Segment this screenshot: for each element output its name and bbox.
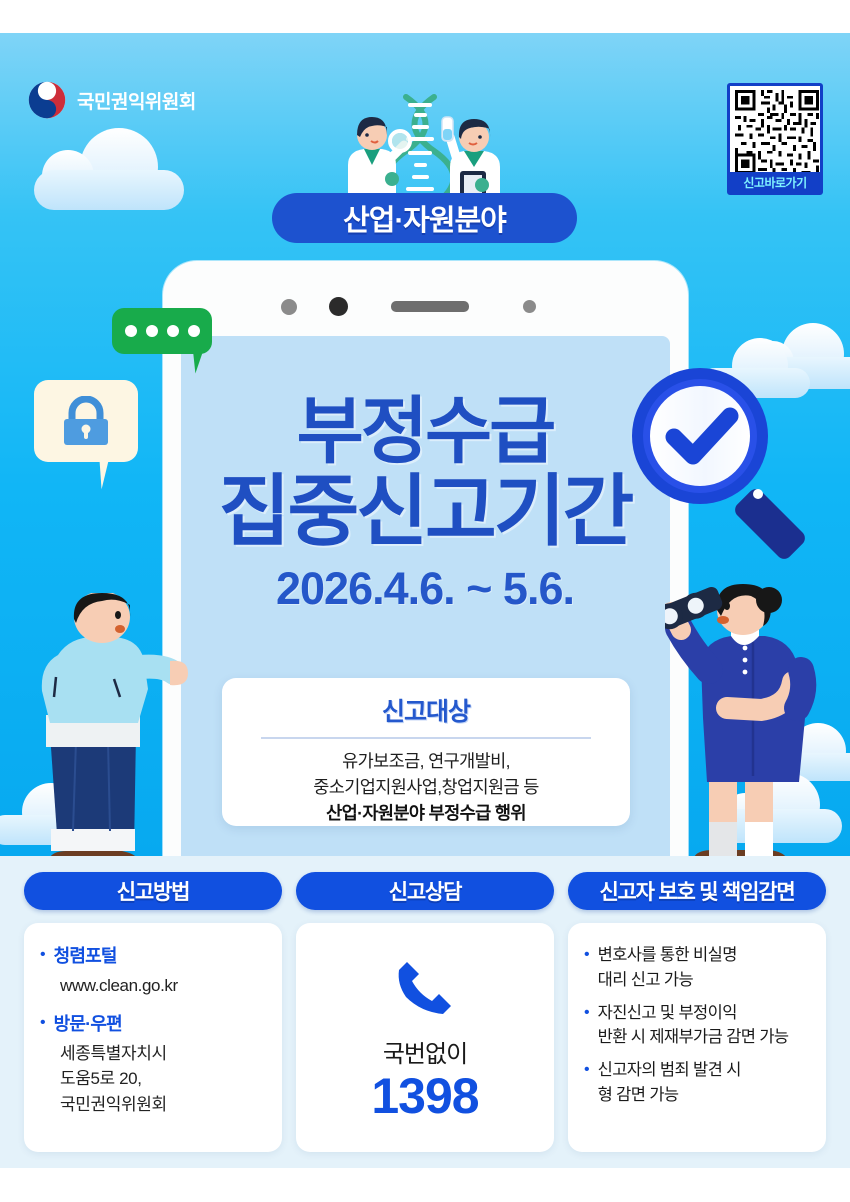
card-report-method: 신고방법 • 청렴포털 www.clean.go.kr • 방문·우편 세종특별… [24, 872, 282, 1152]
dot-icon [125, 325, 137, 337]
card-report-consult: 신고상담 국번없이 1398 [296, 872, 554, 1152]
card-title: 신고자 보호 및 책임감면 [599, 876, 794, 906]
cloud-icon [34, 128, 184, 200]
bullet-icon: • [40, 943, 46, 969]
camera-dot-icon [329, 297, 348, 316]
list-item-sub: 세종특별자치시 도움5로 20, 국민권익위원회 [60, 1041, 266, 1118]
dot-icon [188, 325, 200, 337]
chat-bubble-lock-icon [34, 380, 138, 462]
scientists-dna-icon [330, 93, 520, 208]
bullet-icon: • [584, 1001, 590, 1051]
list-item: • 신고자의 범죄 발견 시 형 감면 가능 [584, 1058, 810, 1108]
category-badge: 산업·자원분야 [272, 193, 577, 243]
list-item-text: 자진신고 및 부정이익 반환 시 제재부가금 감면 가능 [598, 1001, 789, 1051]
lock-icon [54, 396, 118, 448]
camera-dot-icon [281, 299, 297, 315]
list-item-text: 신고자의 범죄 발견 시 형 감면 가능 [598, 1058, 741, 1108]
phone-label: 국번없이 [383, 1034, 467, 1069]
chat-bubble-dots-icon [112, 308, 212, 354]
report-target-title: 신고대상 [240, 692, 612, 728]
card-header: 신고자 보호 및 책임감면 [568, 872, 826, 910]
camera-dot-icon [523, 300, 536, 313]
card-title: 신고방법 [117, 876, 189, 906]
qr-code-block[interactable]: 신고바로가기 [727, 83, 823, 195]
dot-icon [146, 325, 158, 337]
list-item: • 청렴포털 www.clean.go.kr [40, 943, 266, 999]
qr-code-icon [734, 90, 820, 174]
card-body: • 청렴포털 www.clean.go.kr • 방문·우편 세종특별자치시 도… [24, 923, 282, 1152]
report-target-line-2: 중소기업지원사업,창업지원금 등 [240, 774, 612, 800]
list-item: • 자진신고 및 부정이익 반환 시 제재부가금 감면 가능 [584, 1001, 810, 1051]
phone-number[interactable]: 1398 [371, 1069, 478, 1124]
speaker-grille-icon [391, 301, 469, 312]
dot-icon [167, 325, 179, 337]
card-header: 신고상담 [296, 872, 554, 910]
list-item: • 변호사를 통한 비실명 대리 신고 가능 [584, 943, 810, 993]
report-target-line-3: 산업·자원분야 부정수급 행위 [240, 800, 612, 826]
list-item-text: 변호사를 통한 비실명 대리 신고 가능 [598, 943, 737, 993]
agency-name: 국민권익위원회 [77, 87, 196, 114]
card-title: 신고상담 [389, 876, 461, 906]
qr-label: 신고바로가기 [730, 172, 820, 192]
poster-root: 국민권익위원회 [0, 0, 850, 1202]
list-item: • 방문·우편 세종특별자치시 도움5로 20, 국민권익위원회 [40, 1011, 266, 1118]
phone-icon [393, 956, 457, 1020]
card-body: 국번없이 1398 [296, 923, 554, 1152]
sky-background: 국민권익위원회 [0, 33, 850, 856]
category-badge-label: 산업·자원분야 [343, 197, 506, 239]
person-pointing-illustration [18, 593, 188, 856]
magnifier-check-icon [627, 363, 827, 563]
list-item-title: 청렴포털 [54, 943, 117, 969]
agency-logo: 국민권익위원회 [28, 81, 196, 119]
info-cards: 신고방법 • 청렴포털 www.clean.go.kr • 방문·우편 세종특별… [0, 872, 850, 1152]
report-target-line-1: 유가보조금, 연구개발비, [240, 748, 612, 774]
bullet-icon: • [584, 1058, 590, 1108]
list-item-sub[interactable]: www.clean.go.kr [60, 973, 266, 999]
card-body: • 변호사를 통한 비실명 대리 신고 가능 • 자진신고 및 부정이익 반환 … [568, 923, 826, 1152]
person-binoculars-illustration [665, 578, 845, 856]
list-item-title: 방문·우편 [54, 1011, 122, 1037]
divider [261, 737, 591, 739]
taegeuk-icon [28, 81, 66, 119]
report-target-card: 신고대상 유가보조금, 연구개발비, 중소기업지원사업,창업지원금 등 산업·자… [222, 678, 630, 826]
bullet-icon: • [40, 1011, 46, 1037]
bullet-icon: • [584, 943, 590, 993]
card-reporter-protection: 신고자 보호 및 책임감면 • 변호사를 통한 비실명 대리 신고 가능 • 자… [568, 872, 826, 1152]
card-header: 신고방법 [24, 872, 282, 910]
